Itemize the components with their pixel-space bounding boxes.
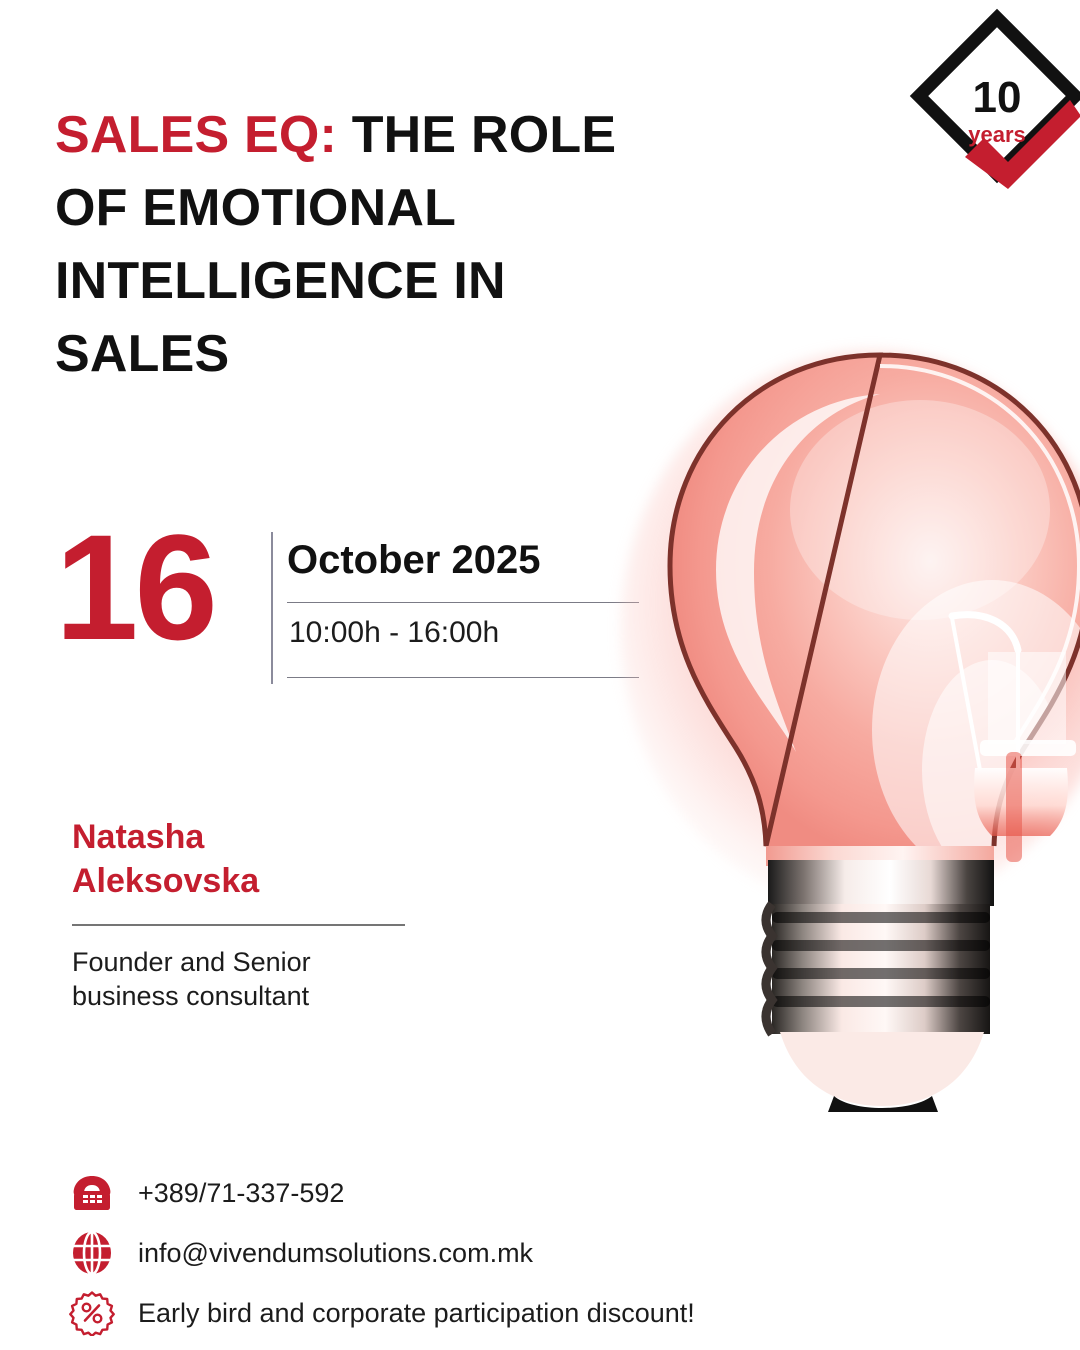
bulb-screw-threads [766,904,990,1034]
logo-years-label: years [968,122,1026,147]
bulb-cap-band [768,860,994,906]
bulb-insulator [780,1032,984,1106]
date-divider-bottom [287,677,639,678]
speaker-block: Natasha Aleksovska Founder and Senior bu… [72,815,492,1013]
date-details: October 2025 10:00h - 16:00h [287,515,647,678]
speaker-role: Founder and Senior business consultant [72,945,392,1013]
bulb-vector [620,300,1080,1290]
speaker-name: Natasha Aleksovska [72,815,332,903]
discount-percent-badge-icon [66,1290,118,1336]
event-date-block: 16 October 2025 10:00h - 16:00h [55,515,655,695]
event-time-range: 10:00h - 16:00h [287,603,647,661]
phone-number: +389/71-337-592 [118,1177,344,1209]
page-title: SALES EQ: THE ROLE OF EMOTIONAL INTELLIG… [55,99,675,391]
date-vertical-divider [271,532,273,684]
event-poster: 10 years SALES EQ: THE ROLE OF EMOTIONAL… [0,0,1080,1350]
ten-years-anniversary-logo: 10 years [905,8,1080,198]
speaker-divider [72,924,405,926]
event-day-number: 16 [55,512,214,662]
title-accent-text: SALES EQ: [55,106,337,164]
contact-row: Early bird and corporate participation d… [66,1283,826,1343]
event-month-year: October 2025 [287,515,647,586]
globe-icon [66,1230,118,1276]
discount-note: Early bird and corporate participation d… [118,1297,695,1329]
email-address: info@vivendumsolutions.com.mk [118,1237,533,1269]
telephone-icon [66,1170,118,1216]
logo-years-number: 10 [973,73,1022,122]
glowing-light-bulb-illustration [620,300,1080,1290]
